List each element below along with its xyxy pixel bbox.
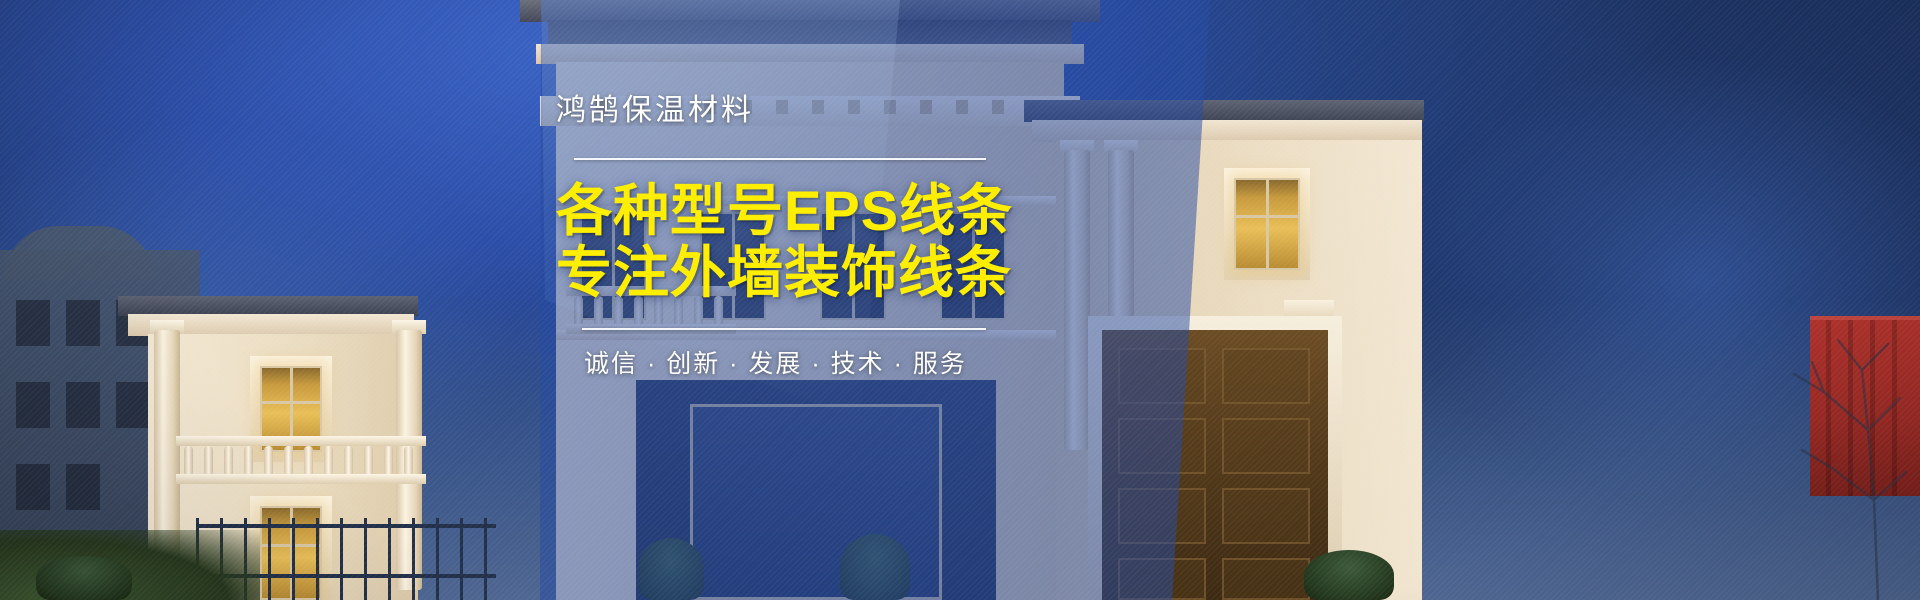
- bare-tree: [1728, 300, 1908, 600]
- central-roof: [520, 0, 1100, 22]
- garage-panel: [1222, 488, 1310, 544]
- garage-panel: [1222, 348, 1310, 404]
- left-wing-roof: [118, 296, 418, 316]
- hero-banner: 鸿鹄保温材料 各种型号EPS线条 专注外墙装饰线条 诚信 · 创新 · 发展 ·…: [0, 0, 1920, 600]
- fence-picket: [364, 518, 367, 600]
- fence-picket: [340, 518, 343, 600]
- balustrade-rail: [176, 436, 426, 446]
- garage-panel: [1222, 558, 1310, 600]
- baluster: [324, 446, 333, 476]
- window-mullion: [1266, 180, 1269, 268]
- baluster: [184, 446, 193, 476]
- balustrade-rail: [176, 474, 426, 484]
- fence-rail: [196, 524, 496, 528]
- fence-picket: [412, 518, 415, 600]
- fence-picket: [388, 518, 391, 600]
- divider-top: [574, 158, 986, 160]
- garage-panel: [1118, 488, 1206, 544]
- garage-panel: [1118, 418, 1206, 474]
- garage-panel: [1118, 558, 1206, 600]
- shrub: [638, 538, 704, 600]
- fence-picket: [292, 518, 295, 600]
- baluster: [244, 446, 253, 476]
- fence-picket: [484, 518, 487, 600]
- window-mullion: [1236, 215, 1298, 218]
- baluster: [344, 446, 353, 476]
- fence-picket: [460, 518, 463, 600]
- headline-group: 各种型号EPS线条 专注外墙装饰线条: [556, 180, 1196, 304]
- fence-picket: [316, 518, 319, 600]
- fence-picket: [268, 518, 271, 600]
- shrub: [1304, 550, 1394, 600]
- banner-text-block: 鸿鹄保温材料 各种型号EPS线条 专注外墙装饰线条 诚信 · 创新 · 发展 ·…: [556, 96, 1196, 386]
- headline-line-1: 各种型号EPS线条: [556, 180, 1196, 242]
- central-roof-slope: [548, 20, 1072, 46]
- baluster: [384, 446, 393, 476]
- baluster: [264, 446, 273, 476]
- divider-bottom: [582, 328, 986, 330]
- central-cornice: [536, 44, 1084, 64]
- shrub: [840, 534, 910, 600]
- baluster: [284, 446, 293, 476]
- brand-name: 鸿鹄保温材料: [556, 96, 1196, 126]
- glowing-window: [1234, 178, 1300, 270]
- baluster: [404, 446, 413, 476]
- fence-picket: [436, 518, 439, 600]
- headline-line-2: 专注外墙装饰线条: [556, 242, 1196, 304]
- window-mullion: [262, 401, 320, 404]
- baluster: [304, 446, 313, 476]
- shrub: [36, 556, 132, 600]
- garage-panel: [1222, 418, 1310, 474]
- baluster: [204, 446, 213, 476]
- baluster: [224, 446, 233, 476]
- baluster: [364, 446, 373, 476]
- tagline: 诚信 · 创新 · 发展 · 技术 · 服务: [584, 352, 1196, 377]
